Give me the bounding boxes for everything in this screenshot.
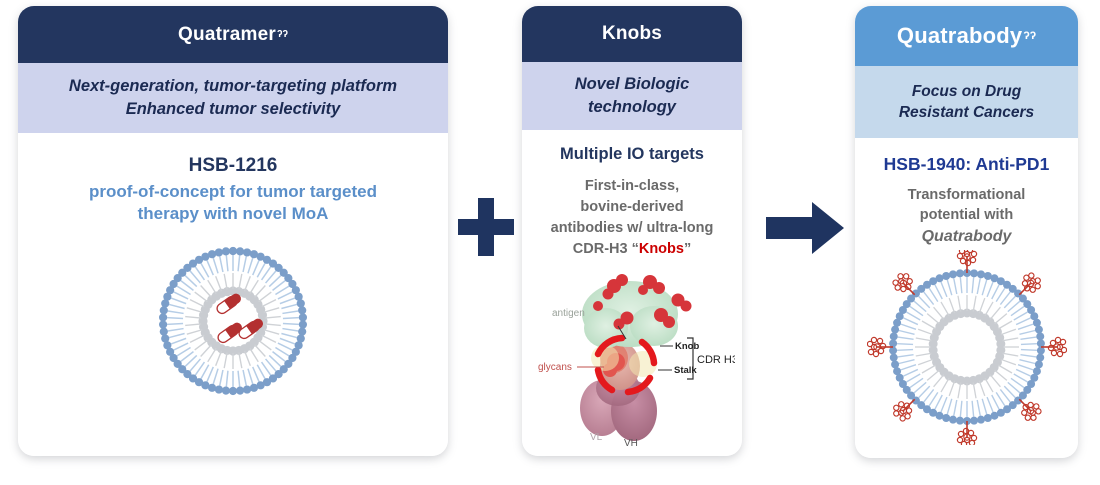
panel-quatramer-body-sub-line2: therapy with novel MoA xyxy=(89,203,377,225)
panel-quatramer-body-title: HSB-1216 xyxy=(189,155,278,177)
panel-quatramer-subtitle-line1: Next-generation, tumor-targeting platfor… xyxy=(69,75,397,98)
panel-knobs: Knobs Novel Biologic technology Multiple… xyxy=(522,6,742,456)
panel-quatrabody-subtitle: Focus on Drug Resistant Cancers xyxy=(855,66,1078,138)
knobs-highlight: Knobs xyxy=(639,241,684,257)
label-knob: Knob xyxy=(675,341,699,352)
panel-knobs-header-label: Knobs xyxy=(602,23,662,45)
closing-quote: ” xyxy=(684,241,691,257)
panel-quatramer-body-sub-line1: proof-of-concept for tumor targeted xyxy=(89,181,377,203)
infographic-canvas: Quatramerʔʔ Next-generation, tumor-targe… xyxy=(0,0,1100,485)
panel-knobs-subtitle: Novel Biologic technology xyxy=(522,62,742,130)
label-vl: VL xyxy=(590,432,603,443)
panel-quatramer-header: Quatramerʔʔ xyxy=(18,6,448,63)
panel-knobs-body-subtitle: First-in-class, bovine-derived antibodie… xyxy=(551,176,714,260)
trademark-mark: ʔʔ xyxy=(1023,30,1036,42)
panel-quatrabody-body-sub-line1: Transformational xyxy=(908,185,1026,205)
panel-knobs-body-sub-line4: CDR-H3 “Knobs” xyxy=(551,239,714,260)
panel-quatramer: Quatramerʔʔ Next-generation, tumor-targe… xyxy=(18,6,448,456)
panel-knobs-body: Multiple IO targets First-in-class, bovi… xyxy=(522,130,742,456)
panel-quatrabody-header-label: Quatrabody xyxy=(897,23,1022,49)
panel-quatramer-body-subtitle: proof-of-concept for tumor targeted ther… xyxy=(89,181,377,226)
liposome-svg xyxy=(133,234,333,409)
panel-quatramer-subtitle: Next-generation, tumor-targeting platfor… xyxy=(18,63,448,133)
panel-quatramer-header-label: Quatramer xyxy=(178,24,276,46)
right-arrow-icon xyxy=(764,200,846,256)
label-antigen: antigen xyxy=(552,308,585,319)
label-stalk: Stalk xyxy=(674,365,697,376)
panel-quatrabody-subtitle-line2: Resistant Cancers xyxy=(899,102,1034,123)
panel-quatrabody-subtitle-line1: Focus on Drug xyxy=(899,81,1034,102)
label-vh: VH xyxy=(624,438,638,449)
antibody-structure-svg: antigen glycans Knob Stalk CDR H3 VL VH xyxy=(530,266,735,451)
plus-icon xyxy=(456,196,516,258)
panel-knobs-body-title: Multiple IO targets xyxy=(560,145,704,164)
antibody-structure-diagram: antigen glycans Knob Stalk CDR H3 VL VH xyxy=(530,266,735,456)
panel-quatramer-subtitle-line2: Enhanced tumor selectivity xyxy=(69,98,397,121)
panel-quatrabody-body-sub-line3: Quatrabody xyxy=(908,226,1026,248)
panel-knobs-body-sub-line2: bovine-derived xyxy=(551,197,714,218)
panel-quatrabody-body: HSB-1940: Anti-PD1 Transformational pote… xyxy=(855,138,1078,458)
label-cdr-h3: CDR H3 xyxy=(697,354,735,366)
panel-quatrabody-header: Quatrabodyʔʔ xyxy=(855,6,1078,66)
label-glycans: glycans xyxy=(538,362,572,373)
panel-quatrabody-body-sub-line2: potential with xyxy=(908,205,1026,225)
panel-knobs-header: Knobs xyxy=(522,6,742,62)
panel-quatramer-body: HSB-1216 proof-of-concept for tumor targ… xyxy=(18,133,448,456)
quatrabody-inner-tails xyxy=(915,295,1019,399)
panel-quatrabody: Quatrabodyʔʔ Focus on Drug Resistant Can… xyxy=(855,6,1078,458)
panel-knobs-subtitle-line1: Novel Biologic xyxy=(575,73,690,96)
quatrabody-liposome-svg xyxy=(867,250,1067,445)
liposome-diagram xyxy=(133,234,333,414)
panel-quatrabody-body-title: HSB-1940: Anti-PD1 xyxy=(884,154,1050,175)
quatrabody-inner-heads xyxy=(928,308,1005,385)
panel-knobs-body-sub-line1: First-in-class, xyxy=(551,176,714,197)
panel-knobs-subtitle-line2: technology xyxy=(575,96,690,119)
panel-quatrabody-body-subtitle: Transformational potential with Quatrabo… xyxy=(908,185,1026,248)
panel-knobs-body-sub-line3: antibodies w/ ultra-long xyxy=(551,218,714,239)
cdr-h3-text: CDR-H3 “ xyxy=(573,241,639,257)
quatrabody-liposome-diagram xyxy=(867,250,1067,450)
trademark-mark: ʔʔ xyxy=(277,29,288,40)
